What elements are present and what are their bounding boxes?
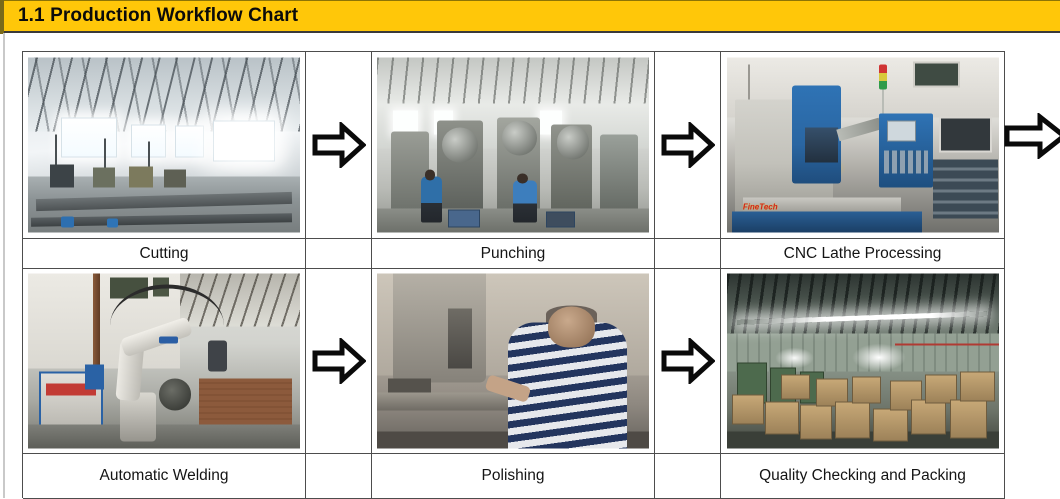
table-row: Cutting Punching CNC Lathe Processing: [23, 239, 1005, 269]
step-label-quality-checking-packing: Quality Checking and Packing: [755, 466, 970, 485]
step-label-cnc: CNC Lathe Processing: [780, 244, 946, 263]
workflow-table: FineTech Cutting Punching CNC Lathe Proc…: [22, 51, 1005, 498]
page-spine-line: [3, 33, 5, 498]
workflow-label-cell-punching: Punching: [372, 239, 655, 269]
photo-punching: [377, 58, 649, 233]
right-block-arrow-icon: [1004, 113, 1060, 159]
step-label-punching: Punching: [477, 244, 550, 263]
photo-quality-checking-packing: [727, 274, 999, 449]
step-label-automatic-welding: Automatic Welding: [96, 466, 233, 485]
table-row: [23, 269, 1005, 454]
workflow-arrow-cell-4: [655, 269, 721, 454]
cnc-brand-logo: FineTech: [743, 203, 778, 212]
workflow-photo-cell-welding: [23, 269, 306, 454]
workflow-label-spacer-3: [306, 454, 372, 499]
workflow-label-cell-polishing: Polishing: [372, 454, 655, 499]
workflow-photo-cell-cutting: [23, 52, 306, 239]
workflow-label-cell-packing: Quality Checking and Packing: [721, 454, 1005, 499]
workflow-arrow-outflow: [1004, 113, 1060, 177]
workflow-label-cell-cnc: CNC Lathe Processing: [721, 239, 1005, 269]
page-title: 1.1 Production Workflow Chart: [4, 5, 298, 27]
table-row: Automatic Welding Polishing Quality Chec…: [23, 454, 1005, 499]
workflow-photo-cell-polishing: [372, 269, 655, 454]
table-row: FineTech: [23, 52, 1005, 239]
workflow-photo-cell-punching: [372, 52, 655, 239]
workflow-label-cell-cutting: Cutting: [23, 239, 306, 269]
step-label-cutting: Cutting: [135, 244, 192, 263]
workflow-arrow-cell-2: [655, 52, 721, 239]
workflow-photo-cell-cnc: FineTech: [721, 52, 1005, 239]
workflow-label-spacer-1: [306, 239, 372, 269]
right-block-arrow-icon: [661, 122, 715, 168]
workflow-label-spacer-4: [655, 454, 721, 499]
workflow-arrow-cell-1: [306, 52, 372, 239]
workflow-chart-page: 1.1 Production Workflow Chart: [0, 0, 1060, 498]
workflow-photo-cell-packing: [721, 269, 1005, 454]
workflow-label-cell-welding: Automatic Welding: [23, 454, 306, 499]
right-block-arrow-icon: [312, 122, 366, 168]
photo-cnc-lathe: FineTech: [727, 58, 999, 233]
workflow-arrow-cell-3: [306, 269, 372, 454]
step-label-polishing: Polishing: [478, 466, 549, 485]
photo-automatic-welding: [28, 274, 300, 449]
right-block-arrow-icon: [661, 338, 715, 384]
workflow-label-spacer-2: [655, 239, 721, 269]
photo-cutting: [28, 58, 300, 233]
right-block-arrow-icon: [312, 338, 366, 384]
photo-polishing: [377, 274, 649, 449]
section-header-bar: 1.1 Production Workflow Chart: [4, 0, 1060, 33]
